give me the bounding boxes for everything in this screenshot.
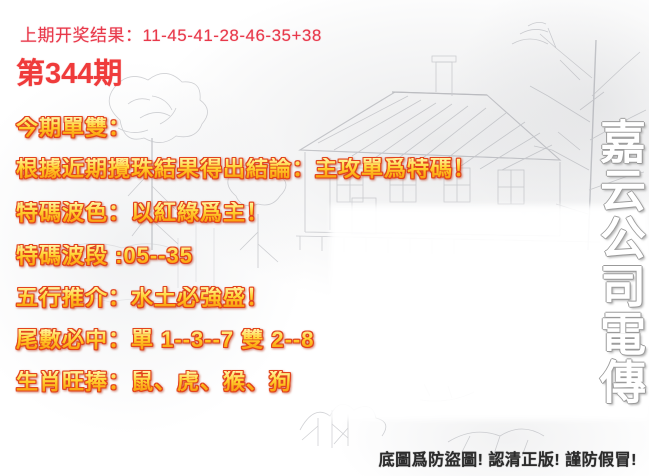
tip-line-zodiac: 生肖旺捧：鼠、虎、猴、狗 bbox=[16, 371, 292, 393]
tip-line-wave-range: 特碼波段 :05--35 bbox=[16, 245, 193, 267]
lottery-tip-poster: 上期开奖结果：11-45-41-28-46-35+38 第344期 今期單雙： … bbox=[0, 0, 649, 476]
anti-counterfeit-warning: 底圖爲防盜圖! 認清正版! 謹防假冒! bbox=[379, 453, 637, 469]
tip-line-wave-color: 特碼波色：以紅綠爲主！ bbox=[16, 202, 269, 224]
tip-line-five-elements: 五行推介：水土必強盛！ bbox=[16, 287, 269, 309]
tip-line-conclusion: 根據近期攪珠結果得出結論：主攻單爲特碼！ bbox=[16, 158, 476, 180]
brand-vertical-watermark: 嘉云公司電傳 bbox=[581, 118, 643, 406]
tip-line-tail-numbers: 尾數必中：單 1--3--7 雙 2--8 bbox=[16, 329, 314, 351]
tip-line-parity-title: 今期單雙： bbox=[16, 117, 131, 139]
tips-list: 今期單雙： 根據近期攪珠結果得出結論：主攻單爲特碼！ 特碼波色：以紅綠爲主！ 特… bbox=[0, 0, 649, 476]
